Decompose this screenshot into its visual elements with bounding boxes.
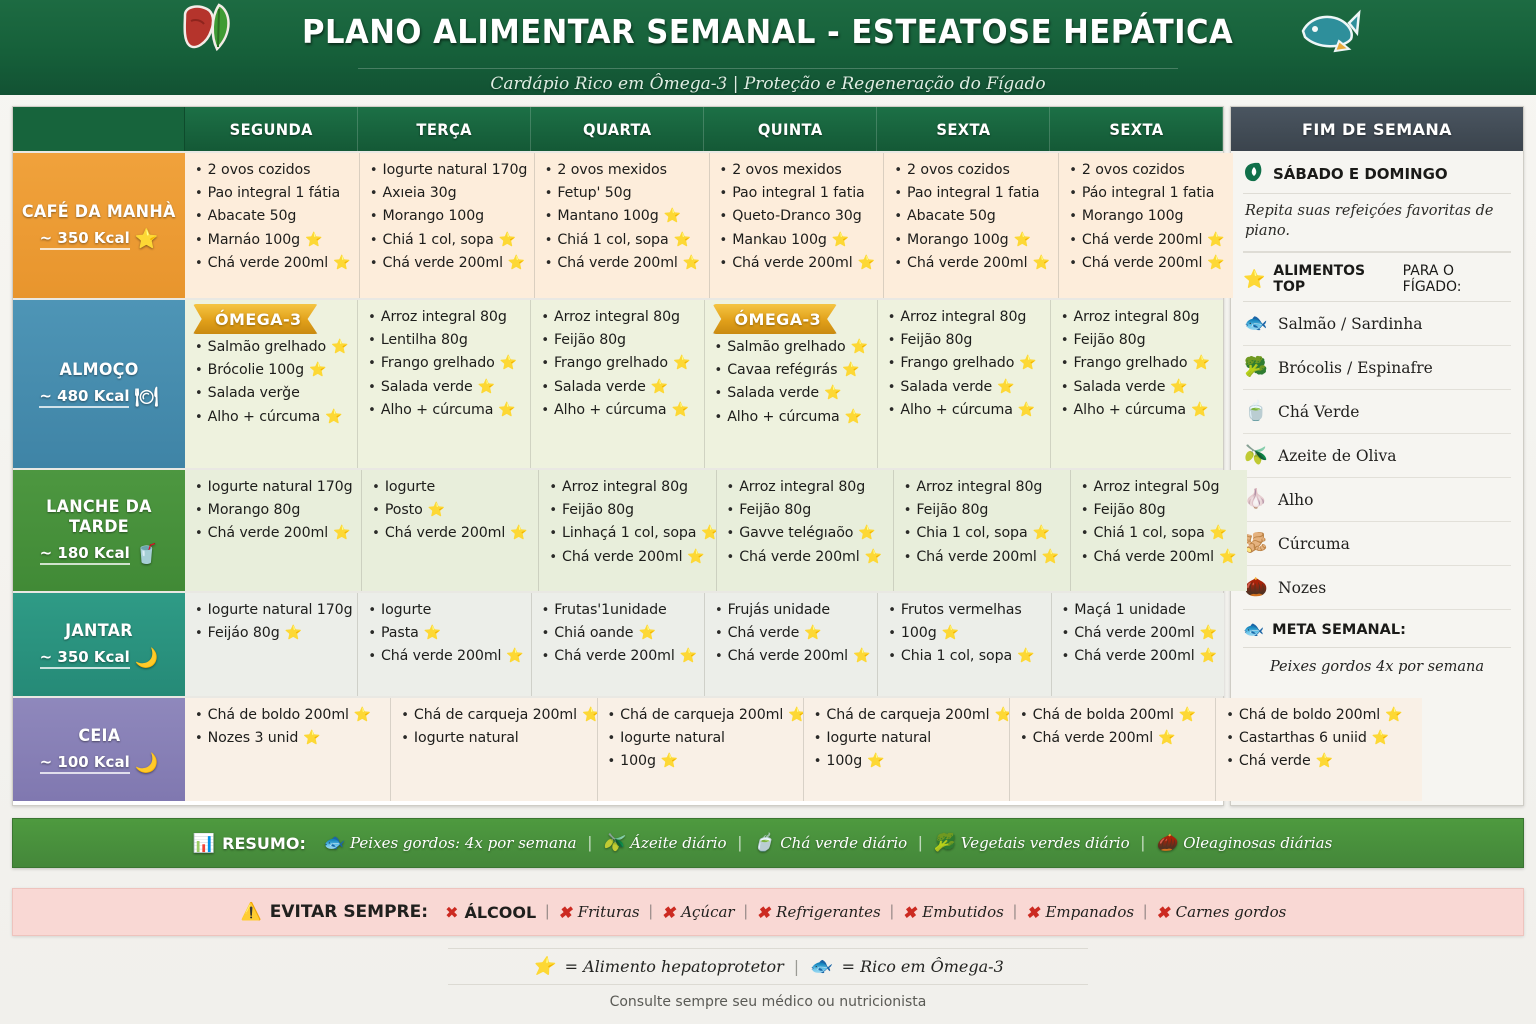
- food-item-label: 2 ovos mexidos: [557, 163, 667, 177]
- meal-cell-cafe-4[interactable]: •2 ovos mexidos•Pao integral 1 fatia•Que…: [710, 153, 885, 298]
- food-item: •Páo integral 1 fatia: [1069, 186, 1225, 200]
- bullet-icon: •: [542, 604, 550, 617]
- legend-separator: |: [794, 957, 799, 976]
- bullet-icon: •: [195, 364, 203, 377]
- top-food-item-6[interactable]: 🫚Cúrcuma: [1243, 522, 1511, 566]
- food-item: •Chá verde 200ml⭐: [1062, 626, 1216, 640]
- avoid-label-group: ⚠️ EVITAR SEMPRE:: [241, 902, 428, 922]
- meal-cell-cafe-6[interactable]: •2 ovos cozidos•Páo integral 1 fatia•Mor…: [1059, 153, 1233, 298]
- weekly-goal-title-row: 🐟 META SEMANAL:: [1243, 610, 1511, 648]
- food-item: •Chá de boldo 200ml⭐: [195, 708, 382, 722]
- meal-cell-lanche-3[interactable]: •Arroz integral 80g•Feijão 80g•Linhaçá 1…: [539, 470, 716, 591]
- star-icon: ⭐: [804, 626, 821, 640]
- food-item: •Alho + cúrcuma⭐: [541, 403, 695, 417]
- meal-cell-ceia-4[interactable]: •Chá de carqueja 200ml⭐•Iogurte natural•…: [804, 698, 1010, 801]
- food-item: •Gavve telégıaõo⭐: [727, 526, 885, 540]
- food-item: •Feijão 80g: [1081, 503, 1239, 517]
- meal-label-almoco[interactable]: ALMOÇO~ 480 Kcal🍽: [13, 300, 185, 468]
- meal-cell-ceia-1[interactable]: •Chá de boldo 200ml⭐•Nozes 3 unid⭐: [185, 698, 391, 801]
- food-item-list: •Iogurte•Posto⭐•Chá verde 200ml⭐: [372, 480, 530, 541]
- food-item: •Feijão 80g: [888, 333, 1042, 347]
- meal-label-ceia[interactable]: CEIA~ 100 Kcal🌙: [13, 698, 185, 801]
- food-item: •Chá verde 200ml⭐: [368, 649, 522, 663]
- food-item: •Chiá 1 col, sopa⭐: [1081, 526, 1239, 540]
- food-item: •100g⭐: [888, 626, 1042, 640]
- food-item: •Iogurte natural 170g: [370, 163, 526, 177]
- bullet-icon: •: [715, 650, 723, 663]
- top-food-item-4[interactable]: 🫒Azeite de Oliva: [1243, 434, 1511, 478]
- food-item-label: Chá verde 200ml: [1094, 550, 1214, 564]
- bullet-icon: •: [888, 404, 896, 417]
- food-item-label: Chá verde 200ml: [1082, 256, 1202, 270]
- avoid-item-label: Empanados: [1045, 903, 1134, 921]
- food-item: •Chá verde 200ml⭐: [1069, 256, 1225, 270]
- leaf-drop-icon: [1243, 161, 1265, 187]
- summary-item-3: 🍵Chá verde diário: [742, 833, 918, 853]
- bullet-icon: •: [1226, 709, 1234, 722]
- top-foods-title-row: ⭐ ALIMENTOS TOP PARA O FÍGADO:: [1243, 253, 1511, 302]
- meal-name: ALMOÇO: [59, 360, 138, 380]
- food-item-label: Chá de carqueja 200ml: [826, 708, 989, 722]
- food-item-label: Salada verde: [554, 380, 646, 394]
- food-item: •Iogurte natural 170g: [195, 603, 349, 617]
- fish-icon: 🐟: [1243, 620, 1264, 640]
- food-item-list: •Arroz integral 80g•Feijão 80g•Frango gr…: [1061, 310, 1215, 417]
- food-item-label: Abacate 50g: [907, 209, 996, 223]
- bullet-icon: •: [372, 481, 380, 494]
- food-item: •Cavaa refégırás⭐: [715, 363, 869, 377]
- food-item: •Feijão 80g: [1061, 333, 1215, 347]
- meal-name: CEIA: [78, 726, 120, 746]
- column-header-6[interactable]: SEXTA: [1050, 107, 1223, 151]
- table-body: CAFÉ DA MANHÀ~ 350 Kcal⭐•2 ovos cozidos•…: [13, 151, 1223, 801]
- column-header-label: TERÇA: [416, 120, 471, 139]
- meal-cell-ceia-6[interactable]: •Chá de boldo 200ml⭐•Castarthas 6 uniid⭐…: [1216, 698, 1421, 801]
- avoid-item-label: Açúcar: [681, 903, 734, 921]
- food-item-label: 2 ovos cozidos: [208, 163, 311, 177]
- bullet-icon: •: [608, 732, 616, 745]
- tea-cup-icon: 🍵: [753, 833, 774, 853]
- food-item-label: 2 ovos cozidos: [907, 163, 1010, 177]
- bullet-icon: •: [888, 357, 896, 370]
- bullet-icon: •: [545, 234, 553, 247]
- food-item: •Mantano 100g⭐: [545, 209, 701, 223]
- meal-cell-lanche-2[interactable]: •Iogurte•Posto⭐•Chá verde 200ml⭐: [362, 470, 539, 591]
- food-item: •Pao integral 1 fátia: [195, 186, 351, 200]
- column-header-1[interactable]: SEGUNDA: [185, 107, 358, 151]
- meal-cell-ceia-3[interactable]: •Chá de carqueja 200ml⭐•Iogurte natural•…: [598, 698, 804, 801]
- star-icon: ⭐: [1191, 403, 1208, 417]
- bullet-icon: •: [814, 732, 822, 745]
- bullet-icon: •: [1020, 732, 1028, 745]
- food-item: •Mankaʋ 100g⭐: [720, 233, 876, 247]
- meal-kcal: ~ 350 Kcal: [40, 648, 130, 669]
- top-food-label: Nozes: [1278, 579, 1326, 597]
- avoid-label: EVITAR SEMPRE:: [270, 902, 428, 922]
- food-item-label: Alho + cúrcuma: [208, 410, 320, 424]
- weekend-title-label: SÁBADO E DOMINGO: [1273, 165, 1448, 183]
- food-item-label: Cavaa refégırás: [727, 363, 837, 377]
- star-icon: ⭐: [867, 754, 884, 768]
- food-item-label: Chá de bolda 200ml: [1033, 708, 1174, 722]
- food-item-label: Chiá 1 col, sopa: [1094, 526, 1205, 540]
- top-food-label: Azeite de Oliva: [1278, 447, 1396, 465]
- meal-cell-jantar-5[interactable]: •Frutos vermelhas•100g⭐•Chia 1 col, sopa…: [878, 593, 1051, 696]
- bullet-icon: •: [541, 381, 549, 394]
- food-item-list: •2 ovos cozidos•Pao integral 1 fátia•Aba…: [195, 163, 351, 270]
- summary-item-label: Chá verde diário: [780, 834, 907, 852]
- food-item: •2 ovos cozidos: [1069, 163, 1225, 177]
- bullet-icon: •: [715, 627, 723, 640]
- summary-bar: 📊 RESUMO: 🐟Peixes gordos: 4x por semana|…: [12, 818, 1524, 868]
- meal-cell-ceia-2[interactable]: •Chá de carqueja 200ml⭐•Iogurte natural: [391, 698, 597, 801]
- star-icon: ⭐: [285, 626, 302, 640]
- food-item-label: Salada verde: [381, 380, 473, 394]
- column-header-5[interactable]: SEXTA: [877, 107, 1050, 151]
- summary-item-label: Vegetais verdes diário: [961, 834, 1130, 852]
- food-item-label: Chá verde 200ml: [916, 550, 1036, 564]
- bullet-icon: •: [195, 210, 203, 223]
- bullet-icon: •: [888, 627, 896, 640]
- bullet-icon: •: [542, 627, 550, 640]
- star-icon: ⭐: [671, 403, 688, 417]
- bullet-icon: •: [1226, 755, 1234, 768]
- meal-cell-almoco-1[interactable]: ÓMEGA-3•Salmão grelhado⭐•Brócolie 100g⭐•…: [185, 300, 358, 468]
- meal-cell-lanche-1[interactable]: •Iogurte natural 170g•Morango 80g•Chá ve…: [185, 470, 362, 591]
- meal-row-almoco: ALMOÇO~ 480 Kcal🍽ÓMEGA-3•Salmão grelhado…: [13, 298, 1223, 468]
- food-item-label: Alho + cúrcuma: [381, 403, 493, 417]
- bullet-icon: •: [715, 364, 723, 377]
- food-item: •Chá verde 200ml⭐: [370, 256, 526, 270]
- food-item: •Feijão 80g: [541, 333, 695, 347]
- star-icon: ⭐: [1207, 256, 1224, 270]
- star-icon: ⭐: [303, 731, 320, 745]
- meal-kcal: ~ 100 Kcal: [40, 753, 130, 774]
- food-item-label: Morango 100g: [1082, 209, 1184, 223]
- food-item-label: Feijão 80g: [916, 503, 988, 517]
- bullet-icon: •: [1069, 234, 1077, 247]
- food-item-label: Iogurte natural 170g: [383, 163, 528, 177]
- meal-cell-almoco-3[interactable]: •Arroz integral 80g•Feijão 80g•Frango gr…: [531, 300, 704, 468]
- meal-cell-lanche-4[interactable]: •Arroz integral 80g•Feijão 80g•Gavve tel…: [717, 470, 894, 591]
- star-icon: ⭐: [997, 380, 1014, 394]
- food-item-label: Morango 80g: [208, 503, 301, 517]
- star-icon: ⭐: [1200, 626, 1217, 640]
- food-item: •Chá verde 200ml⭐: [1020, 731, 1207, 745]
- bullet-icon: •: [195, 481, 203, 494]
- food-item-label: Frujás unidade: [728, 603, 830, 617]
- food-item: •Chia 1 col, sopa⭐: [888, 649, 1042, 663]
- top-food-item-2[interactable]: 🥦Brócolis / Espinafre: [1243, 346, 1511, 390]
- omega3-badge: ÓMEGA-3: [193, 304, 318, 334]
- bullet-icon: •: [1081, 481, 1089, 494]
- food-item-label: Morango 100g: [907, 233, 1009, 247]
- star-icon: ⭐: [1219, 550, 1236, 564]
- meal-name: JANTAR: [65, 621, 133, 641]
- food-item-label: Arroz integral 80g: [900, 310, 1026, 324]
- column-header-label: QUINTA: [758, 120, 823, 139]
- food-item-list: •Salmão grelhado⭐•Cavaa refégırás⭐•Salad…: [715, 340, 869, 424]
- star-icon: ⭐: [309, 363, 326, 377]
- avoid-item-label: Embutidos: [922, 903, 1004, 921]
- bullet-icon: •: [894, 210, 902, 223]
- food-item: •Arroz integral 80g: [727, 480, 885, 494]
- column-header-2[interactable]: TERÇA: [358, 107, 531, 151]
- meal-cell-jantar-4[interactable]: •Frujás unidade•Chá verde⭐•Chá verde 200…: [705, 593, 878, 696]
- meal-kcal: ~ 480 Kcal: [39, 387, 129, 408]
- meal-label-jantar[interactable]: JANTAR~ 350 Kcal🌙: [13, 593, 185, 696]
- food-item-label: Chá verde: [728, 626, 800, 640]
- food-item-label: Chá verde 200ml: [381, 649, 501, 663]
- bullet-icon: •: [720, 187, 728, 200]
- food-item: •Pao integral 1 fatia: [720, 186, 876, 200]
- bullet-icon: •: [894, 234, 902, 247]
- meal-cell-cafe-5[interactable]: •2 ovos cozidos•Pao integral 1 fatia•Aba…: [884, 153, 1059, 298]
- close-icon: ✖: [1026, 903, 1039, 922]
- bullet-icon: •: [720, 210, 728, 223]
- food-item-label: Chá verde 200ml: [208, 256, 328, 270]
- food-item-label: Chá verde 200ml: [208, 526, 328, 540]
- close-icon: ✖: [445, 903, 458, 922]
- food-item: •2 ovos cozidos: [894, 163, 1050, 177]
- fish-icon: 🐟: [809, 956, 831, 977]
- food-item: •2 ovos mexidos: [545, 163, 701, 177]
- meal-cell-lanche-6[interactable]: •Arroz integral 50g•Feijão 80g•Chiá 1 co…: [1071, 470, 1247, 591]
- food-item: •Frango grelhado⭐: [888, 356, 1042, 370]
- food-item: •Arroz integral 80g: [541, 310, 695, 324]
- food-item-label: Alho + cúrcuma: [727, 410, 839, 424]
- food-item: •Arroz integral 80g: [1061, 310, 1215, 324]
- bullet-icon: •: [727, 527, 735, 540]
- food-item-label: Frutas'1unidade: [554, 603, 666, 617]
- food-item-label: Feijão 80g: [554, 333, 626, 347]
- food-item-label: Iogurte: [381, 603, 431, 617]
- food-item-list: •Salmão grelhado⭐•Brócolie 100g⭐•Salada …: [195, 340, 349, 424]
- meal-cell-ceia-5[interactable]: •Chá de bolda 200ml⭐•Chá verde 200ml⭐: [1010, 698, 1216, 801]
- column-header-4[interactable]: QUINTA: [704, 107, 877, 151]
- meal-cell-cafe-3[interactable]: •2 ovos mexidos•Fetup' 50g•Mantano 100g⭐…: [535, 153, 710, 298]
- column-header-3[interactable]: QUARTA: [531, 107, 704, 151]
- meal-cell-lanche-5[interactable]: •Arroz integral 80g•Feijão 80g•Chia 1 co…: [894, 470, 1071, 591]
- star-icon: ⭐: [1316, 754, 1333, 768]
- legend-fish-text: = Rico em Ômega-3: [842, 957, 1004, 976]
- summary-label-group: 📊 RESUMO:: [193, 833, 306, 854]
- food-item-label: Alho + cúrcuma: [900, 403, 1012, 417]
- bullet-icon: •: [370, 164, 378, 177]
- column-header-label: SEXTA: [936, 120, 990, 139]
- weekend-note: Repita suas refeiçóes favoritas de piano…: [1243, 194, 1511, 253]
- food-item-label: Marnáo 100g: [208, 233, 300, 247]
- food-item: •Axıeia 30g: [370, 186, 526, 200]
- bullet-icon: •: [1081, 551, 1089, 564]
- meal-cell-almoco-2[interactable]: •Arroz integral 80g•Lentilha 80g•Frango …: [358, 300, 531, 468]
- food-item: •Chá verde 200ml⭐: [727, 550, 885, 564]
- bullet-icon: •: [1069, 257, 1077, 270]
- food-item-label: Frango grelhado: [554, 356, 668, 370]
- bullet-icon: •: [1062, 650, 1070, 663]
- table-header-row: SEGUNDATERÇAQUARTAQUINTASEXTASEXTA: [13, 107, 1223, 151]
- food-item-list: •Chá de carqueja 200ml⭐•Iogurte natural•…: [608, 708, 795, 769]
- bullet-icon: •: [608, 755, 616, 768]
- meal-cell-almoco-5[interactable]: •Arroz integral 80g•Feijão 80g•Frango gr…: [878, 300, 1051, 468]
- food-item: •Frutos vermelhas: [888, 603, 1042, 617]
- summary-label: RESUMO:: [222, 834, 306, 853]
- meal-cell-almoco-6[interactable]: •Arroz integral 80g•Feijão 80g•Frango gr…: [1051, 300, 1223, 468]
- fish-icon: 🐟: [1243, 314, 1269, 333]
- food-item: •Salada verde⭐: [368, 380, 522, 394]
- star-icon: ⭐: [680, 649, 697, 663]
- star-icon: ⭐: [1033, 526, 1050, 540]
- food-item-label: Abacate 50g: [208, 209, 297, 223]
- food-item-label: 100g: [620, 754, 656, 768]
- food-item-list: •Chá de bolda 200ml⭐•Chá verde 200ml⭐: [1020, 708, 1207, 745]
- food-item: •Lentilha 80g: [368, 333, 522, 347]
- food-item-list: •Frujás unidade•Chá verde⭐•Chá verde 200…: [715, 603, 869, 664]
- summary-item-label: Ázeite diário: [630, 834, 726, 852]
- food-item-label: Gavve telégıaõo: [739, 526, 853, 540]
- star-icon: ⭐: [1207, 233, 1224, 247]
- food-item-list: •Chá de carqueja 200ml⭐•Iogurte natural•…: [814, 708, 1001, 769]
- food-item-list: •Arroz integral 80g•Feijão 80g•Linhaçá 1…: [549, 480, 707, 564]
- bullet-icon: •: [549, 481, 557, 494]
- top-food-item-3[interactable]: 🍵Chá Verde: [1243, 390, 1511, 434]
- bullet-icon: •: [541, 357, 549, 370]
- meal-cell-jantar-3[interactable]: •Frutas'1unidade•Chiá oande⭐•Chá verde 2…: [532, 593, 705, 696]
- avoid-item-label: Frituras: [578, 903, 640, 921]
- bullet-icon: •: [1061, 311, 1069, 324]
- bullet-icon: •: [195, 411, 203, 424]
- bullet-icon: •: [1081, 527, 1089, 540]
- top-food-label: Cúrcuma: [1278, 535, 1350, 553]
- food-item-label: Iogurte natural 170g: [208, 603, 353, 617]
- food-item: •Iogurte: [368, 603, 522, 617]
- food-item-label: Nozes 3 unid: [208, 731, 299, 745]
- meal-cell-almoco-4[interactable]: ÓMEGA-3•Salmão grelhado⭐•Cavaa refégırás…: [705, 300, 878, 468]
- bullet-icon: •: [372, 527, 380, 540]
- food-item-list: •Arroz integral 80g•Feijão 80g•Chia 1 co…: [904, 480, 1062, 564]
- food-item: •Chá verde 200ml⭐: [720, 256, 876, 270]
- food-item: •Pao integral 1 fatia: [894, 186, 1050, 200]
- food-item: •Chiá 1 col, sopa⭐: [545, 233, 701, 247]
- bullet-icon: •: [894, 257, 902, 270]
- food-item: •Alho + cúrcuma⭐: [715, 410, 869, 424]
- close-icon: ✖: [1156, 903, 1169, 922]
- avoid-item-6: ✖Empanados: [1017, 903, 1143, 922]
- food-item-label: Linhaçá 1 col, sopa: [562, 526, 696, 540]
- food-item-label: Chá verde 200ml: [1082, 233, 1202, 247]
- food-item: •Brócolie 100g⭐: [195, 363, 349, 377]
- food-item-label: Chá verde 200ml: [383, 256, 503, 270]
- food-item-list: •2 ovos mexidos•Fetup' 50g•Mantano 100g⭐…: [545, 163, 701, 270]
- food-item: •Salada verde⭐: [888, 380, 1042, 394]
- bullet-icon: •: [904, 527, 912, 540]
- food-item: •Iogurte natural: [814, 731, 1001, 745]
- meal-label-lanche[interactable]: LANCHE DA TARDE~ 180 Kcal🥤: [13, 470, 185, 591]
- food-item-label: Arroz integral 80g: [554, 310, 680, 324]
- star-icon: ⭐: [858, 256, 875, 270]
- legend-star-text: = Alimento hepatoprotetor: [565, 957, 784, 976]
- top-food-item-1[interactable]: 🐟Salmão / Sardinha: [1243, 302, 1511, 346]
- star-icon: ⭐: [1032, 256, 1049, 270]
- food-item: •Frango grelhado⭐: [1061, 356, 1215, 370]
- star-icon: ⭐: [842, 363, 859, 377]
- bullet-icon: •: [888, 604, 896, 617]
- food-item-label: Chá verde 200ml: [1074, 626, 1194, 640]
- star-icon: ⭐: [824, 386, 841, 400]
- meal-plan-infographic: PLANO ALIMENTAR SEMANAL - ESTEATOSE HEPÁ…: [0, 0, 1536, 1024]
- food-item: •Chá verde 200ml⭐: [545, 256, 701, 270]
- food-item-list: •Iogurte natural 170g•Axıeia 30g•Morango…: [370, 163, 526, 270]
- star-icon: ⭐: [1372, 731, 1389, 745]
- food-item-label: Alho + cúrcuma: [554, 403, 666, 417]
- top-food-item-7[interactable]: 🌰Nozes: [1243, 566, 1511, 610]
- avoid-bar: ⚠️ EVITAR SEMPRE: ✖ÁLCOOL|✖Frituras|✖Açú…: [12, 888, 1524, 936]
- fork-knife-emoji: 🍽: [134, 388, 158, 407]
- close-icon: ✖: [662, 903, 675, 922]
- close-icon: ✖: [757, 903, 770, 922]
- meal-cell-cafe-1[interactable]: •2 ovos cozidos•Pao integral 1 fátia•Aba…: [185, 153, 360, 298]
- star-icon: ⭐: [331, 340, 348, 354]
- meal-cell-jantar-1[interactable]: •Iogurte natural 170g•Feijáo 80g⭐: [185, 593, 358, 696]
- food-item: •100g⭐: [608, 754, 795, 768]
- broccoli-icon: 🥦: [934, 833, 955, 853]
- food-item: •Feijão 80g: [904, 503, 1062, 517]
- meal-cell-jantar-2[interactable]: •Iogurte•Pasta⭐•Chá verde 200ml⭐: [358, 593, 531, 696]
- food-item: •Chá verde 200ml⭐: [904, 550, 1062, 564]
- summary-item-2: 🫒Ázeite diário: [592, 833, 738, 853]
- food-item: •Chá verde⭐: [1226, 754, 1413, 768]
- food-item: •Fetup' 50g: [545, 186, 701, 200]
- food-item-label: Chá verde 200ml: [385, 526, 505, 540]
- food-item: •Queto-Dranco 30g: [720, 209, 876, 223]
- bullet-icon: •: [368, 357, 376, 370]
- food-item-label: Lentilha 80g: [381, 333, 468, 347]
- star-icon: ⭐: [1014, 233, 1031, 247]
- close-icon: ✖: [903, 903, 916, 922]
- star-icon: ⭐: [651, 380, 668, 394]
- meal-cell-jantar-6[interactable]: •Maçá 1 unidade•Chá verde 200ml⭐•Chá ver…: [1052, 593, 1224, 696]
- top-foods-list: 🐟Salmão / Sardinha🥦Brócolis / Espinafre🍵…: [1243, 302, 1511, 610]
- meal-label-cafe[interactable]: CAFÉ DA MANHÀ~ 350 Kcal⭐: [13, 153, 185, 298]
- summary-item-4: 🥦Vegetais verdes diário: [923, 833, 1141, 853]
- star-icon: ⭐: [673, 356, 690, 370]
- liver-leaf-icon: [175, 1, 241, 61]
- food-item: •Marnáo 100g⭐: [195, 233, 351, 247]
- meal-row-cafe: CAFÉ DA MANHÀ~ 350 Kcal⭐•2 ovos cozidos•…: [13, 151, 1223, 298]
- food-item: •Chiá 1 col, sopa⭐: [370, 233, 526, 247]
- star-icon: ⭐: [664, 209, 681, 223]
- food-item-label: Iogurte natural: [620, 731, 725, 745]
- bullet-icon: •: [814, 755, 822, 768]
- food-item-label: Morango 100g: [383, 209, 485, 223]
- bullet-icon: •: [195, 604, 203, 617]
- star-icon: ⭐: [661, 754, 678, 768]
- table-corner-cell: [13, 107, 185, 151]
- star-icon: ⭐: [1042, 550, 1059, 564]
- food-item-label: Salmão grelhado: [208, 340, 326, 354]
- top-food-item-5[interactable]: 🧄Alho: [1243, 478, 1511, 522]
- star-icon: ⭐: [832, 233, 849, 247]
- food-item-label: Queto-Dranco 30g: [732, 209, 861, 223]
- food-item: •Nozes 3 unid⭐: [195, 731, 382, 745]
- food-item-label: Iogurte natural: [414, 731, 519, 745]
- food-item-label: Feijão 80g: [739, 503, 811, 517]
- food-item: •Chá verde 200ml⭐: [894, 256, 1050, 270]
- star-icon: ⭐: [1018, 403, 1035, 417]
- meal-cell-cafe-2[interactable]: •Iogurte natural 170g•Axıeia 30g•Morango…: [360, 153, 535, 298]
- star-icon: ⭐: [1019, 356, 1036, 370]
- food-item: •Chá verde⭐: [715, 626, 869, 640]
